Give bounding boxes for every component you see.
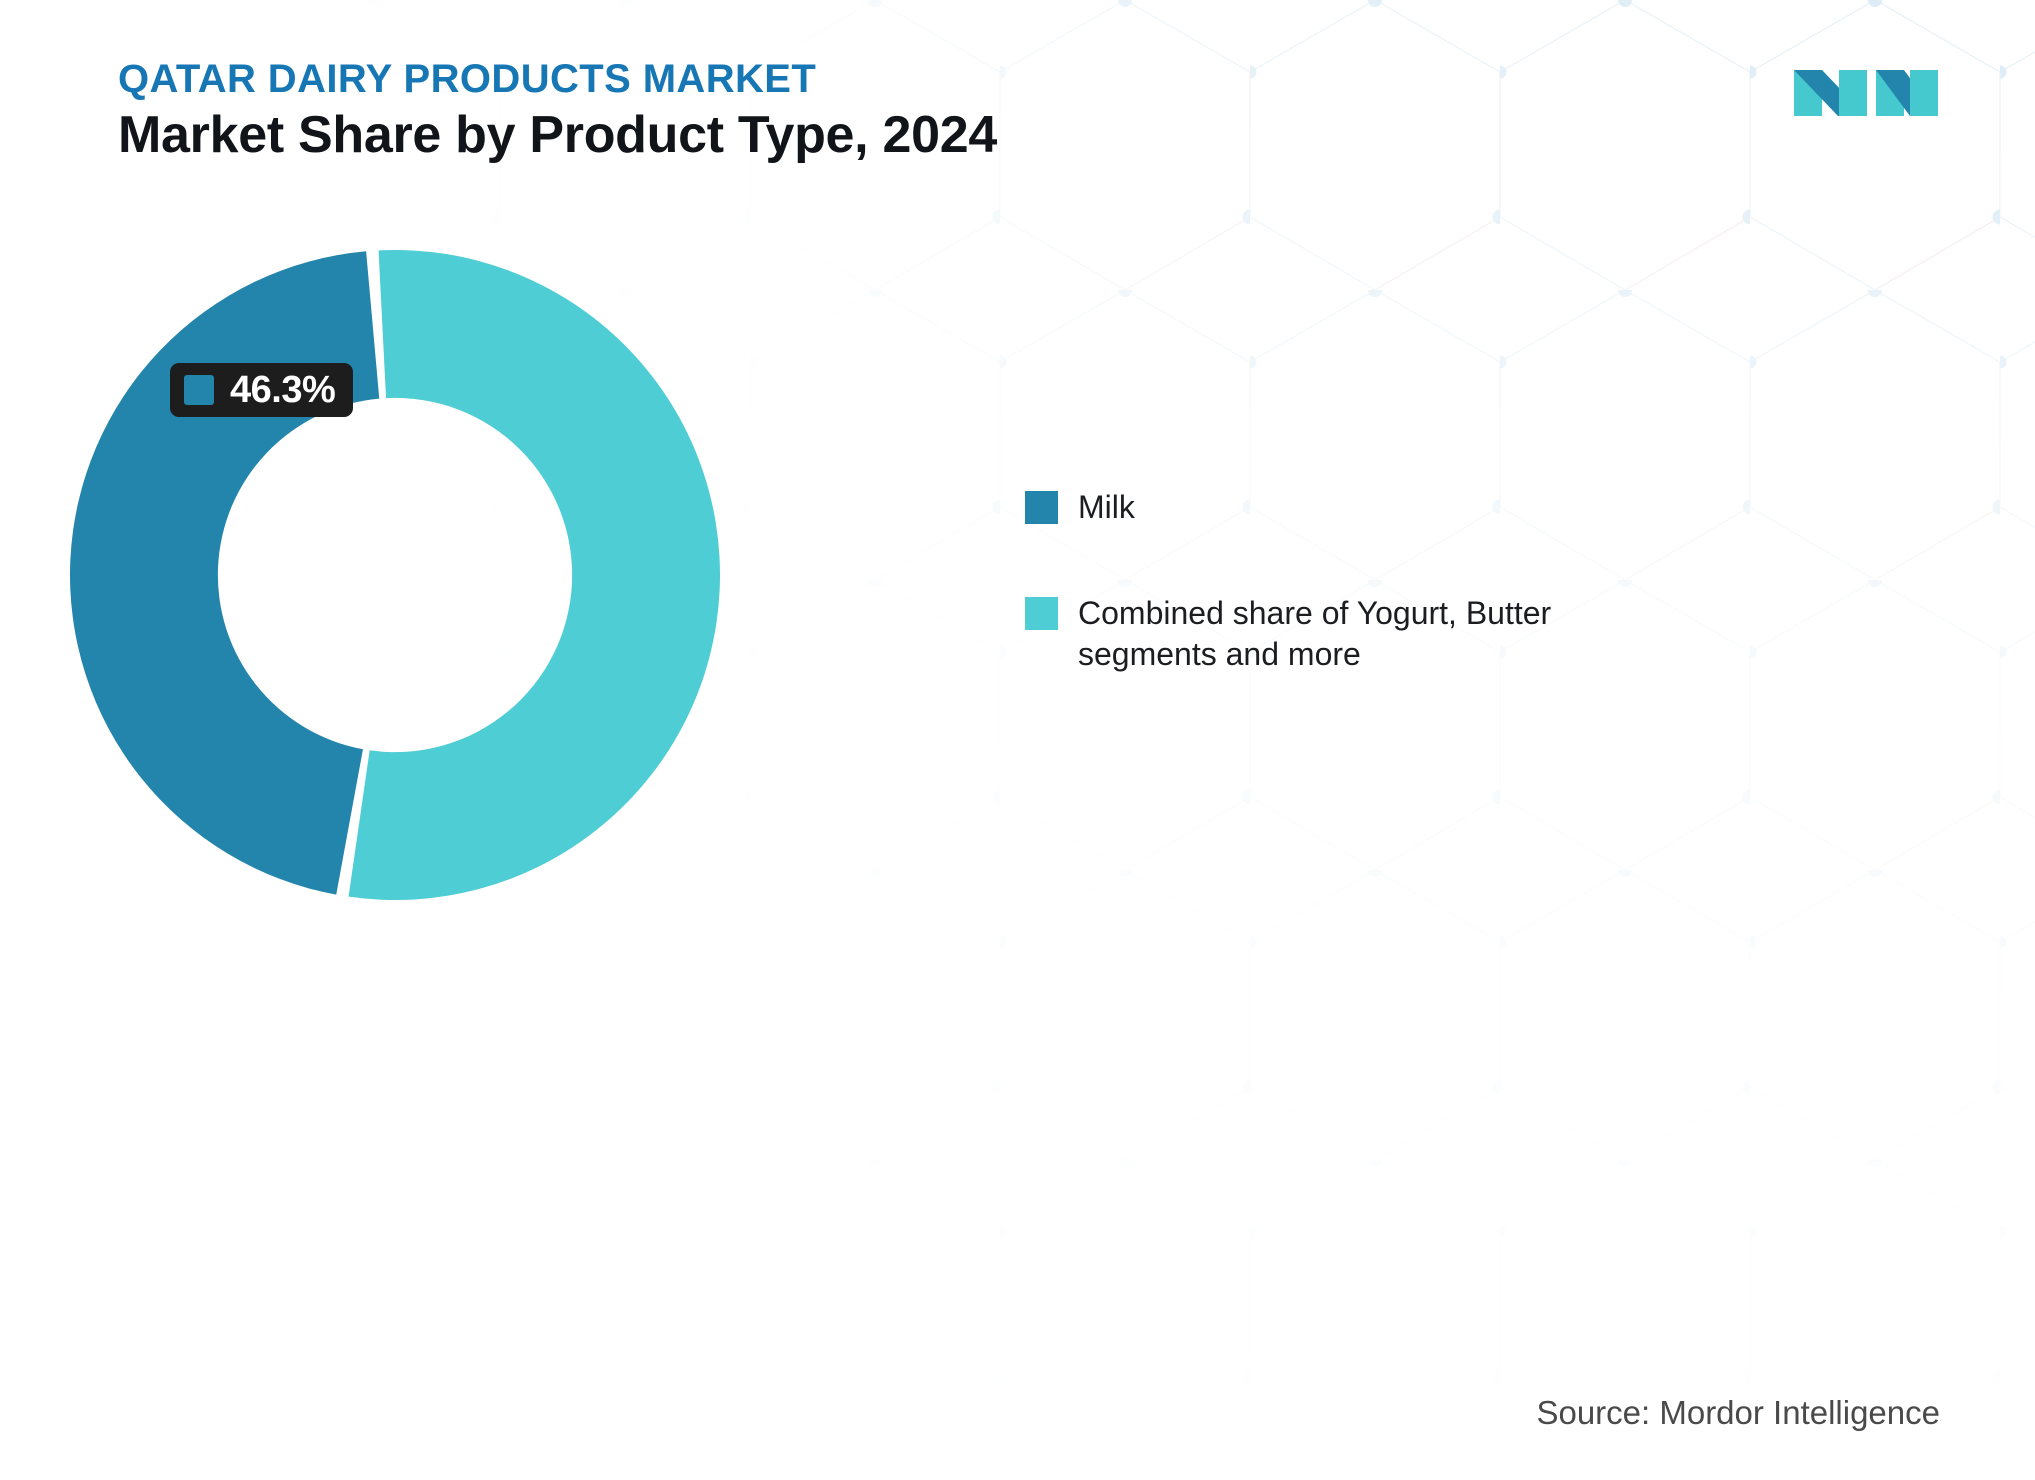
legend-label-combined: Combined share of Yogurt, Butter segment… xyxy=(1078,593,1698,676)
legend-swatch-milk xyxy=(1025,491,1058,524)
logo-mark xyxy=(1794,70,1938,116)
chart-eyebrow-title: QATAR DAIRY PRODUCTS MARKET xyxy=(118,58,997,100)
legend-swatch-combined xyxy=(1025,597,1058,630)
chart-main-title: Market Share by Product Type, 2024 xyxy=(118,106,997,166)
donut-chart-svg xyxy=(55,235,735,915)
mordor-intelligence-logo xyxy=(1792,62,1940,124)
chart-header: QATAR DAIRY PRODUCTS MARKET Market Share… xyxy=(118,58,997,166)
donut-slices xyxy=(70,250,720,900)
donut-slice-combined[interactable] xyxy=(349,250,720,900)
legend-item-milk[interactable]: Milk xyxy=(1025,487,1725,529)
source-attribution: Source: Mordor Intelligence xyxy=(1536,1394,1940,1432)
donut-chart xyxy=(55,235,735,915)
chart-legend: Milk Combined share of Yogurt, Butter se… xyxy=(1025,487,1725,676)
legend-item-combined[interactable]: Combined share of Yogurt, Butter segment… xyxy=(1025,593,1725,676)
badge-value-text: 46.3% xyxy=(230,371,335,409)
badge-color-swatch xyxy=(184,375,214,405)
donut-slice-milk[interactable] xyxy=(70,251,379,894)
legend-label-milk: Milk xyxy=(1078,487,1135,529)
data-label-badge: 46.3% xyxy=(170,363,353,417)
